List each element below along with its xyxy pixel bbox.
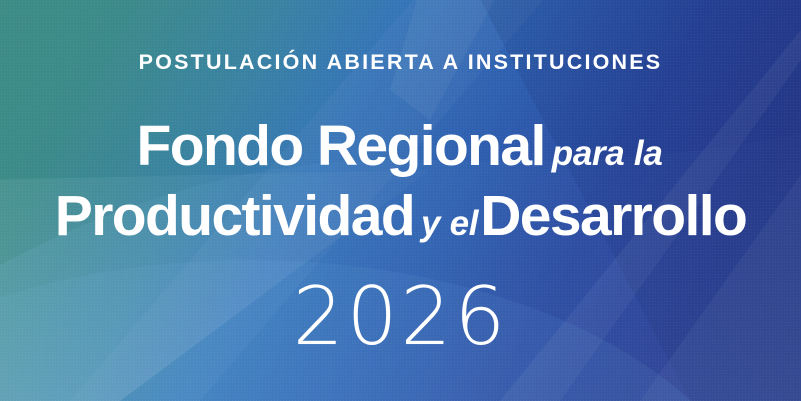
title-connector-para-la: para la xyxy=(545,134,665,173)
banner-kicker: POSTULACIÓN ABIERTA A INSTITUCIONES xyxy=(139,52,663,74)
title-main-desarrollo: Desarrollo xyxy=(480,184,746,248)
banner-content: POSTULACIÓN ABIERTA A INSTITUCIONES Fond… xyxy=(0,0,801,401)
title-main-productividad: Productividad xyxy=(55,184,414,248)
banner-title-line-1: Fondo Regionalpara la xyxy=(137,118,665,175)
banner-title-line-2: Productividady elDesarrollo xyxy=(55,188,746,245)
promo-banner: POSTULACIÓN ABIERTA A INSTITUCIONES Fond… xyxy=(0,0,801,401)
banner-year: 2026 xyxy=(293,277,509,357)
title-connector-y-el: y el xyxy=(414,204,480,243)
title-main-fondo-regional: Fondo Regional xyxy=(137,114,545,178)
